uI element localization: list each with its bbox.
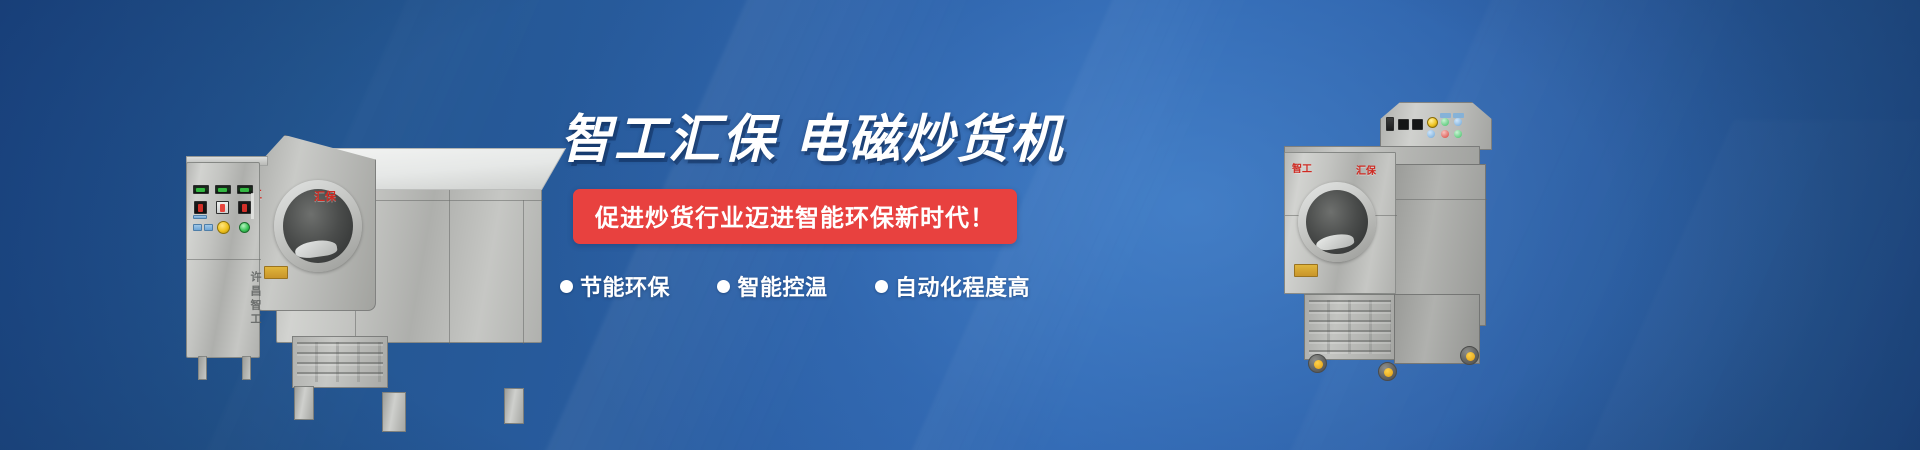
emergency-stop-knob[interactable] <box>217 221 230 234</box>
display-red-3 <box>238 201 251 214</box>
start-indicator[interactable] <box>239 222 250 233</box>
left-machine-nameplate <box>264 266 288 279</box>
switch-2[interactable] <box>204 224 213 231</box>
bullet-dot-icon <box>560 280 573 293</box>
left-machine-vent <box>292 336 388 388</box>
feature-item-2: 智能控温 <box>717 270 827 302</box>
feature-item-3: 自动化程度高 <box>875 270 1030 302</box>
headline-brand: 智工汇保 <box>560 111 776 169</box>
right-button-blue-2[interactable] <box>1427 130 1435 138</box>
switch-label-strip <box>193 215 207 219</box>
product-image-right-roaster: 智工 汇保 <box>1268 98 1528 438</box>
right-button-red-1[interactable] <box>1441 130 1449 138</box>
caster-wheel-2 <box>1378 362 1397 381</box>
right-machine-control-face <box>1386 112 1468 138</box>
display-green-2 <box>215 185 231 194</box>
left-machine-control-cabinet: 许昌智工 <box>186 162 260 358</box>
product-image-left-roaster: 智工 汇保 许昌智工 <box>186 100 606 430</box>
right-machine-vent-base <box>1304 294 1396 360</box>
left-machine-cabinet-text: 许昌智工 <box>247 271 263 327</box>
display-red-1 <box>194 201 207 214</box>
right-machine-nameplate <box>1294 264 1318 277</box>
left-cabinet-leg-2 <box>242 356 251 380</box>
right-machine-brand-huibao: 汇保 <box>1356 162 1376 177</box>
feature-item-1: 节能环保 <box>560 270 670 302</box>
display-red-2 <box>216 201 229 214</box>
promo-banner: 智工 汇保 许昌智工 <box>0 0 1920 450</box>
left-machine-leg-3 <box>504 388 524 424</box>
feature-label-2: 智能控温 <box>737 270 827 302</box>
right-machine-brand-zhigong: 智工 <box>1292 160 1312 175</box>
caster-wheel-1 <box>1308 354 1327 373</box>
page-title: 智工汇保电磁炒货机 <box>560 112 1030 168</box>
right-machine-drum-opening <box>1306 190 1368 254</box>
left-machine-leg-1 <box>294 386 314 420</box>
left-machine-brand-huibao: 汇保 <box>314 188 336 204</box>
feature-label-1: 节能环保 <box>580 270 670 302</box>
subtitle-badge: 促进炒货行业迈进智能环保新时代！ <box>573 189 1017 244</box>
bullet-dot-icon <box>717 280 730 293</box>
left-machine-leg-2 <box>382 392 406 432</box>
caster-wheel-3 <box>1460 346 1479 365</box>
left-cabinet-leg-1 <box>198 356 207 380</box>
feature-list: 节能环保 智能控温 自动化程度高 <box>560 270 1030 302</box>
feature-label-3: 自动化程度高 <box>895 270 1030 302</box>
banner-copy: 智工汇保电磁炒货机 促进炒货行业迈进智能环保新时代！ 节能环保 智能控温 自动化… <box>560 112 1030 302</box>
right-display-main <box>1386 117 1394 131</box>
right-display-2 <box>1412 119 1423 130</box>
right-button-green-2[interactable] <box>1454 130 1462 138</box>
headline-product: 电磁炒货机 <box>794 111 1064 169</box>
display-green-1 <box>193 185 209 194</box>
right-display-1 <box>1398 119 1409 130</box>
bullet-dot-icon <box>875 280 888 293</box>
right-emergency-stop-knob[interactable] <box>1427 117 1438 128</box>
right-button-green-1[interactable] <box>1441 118 1449 126</box>
switch-1[interactable] <box>193 224 202 231</box>
right-button-blue-1[interactable] <box>1454 118 1462 126</box>
